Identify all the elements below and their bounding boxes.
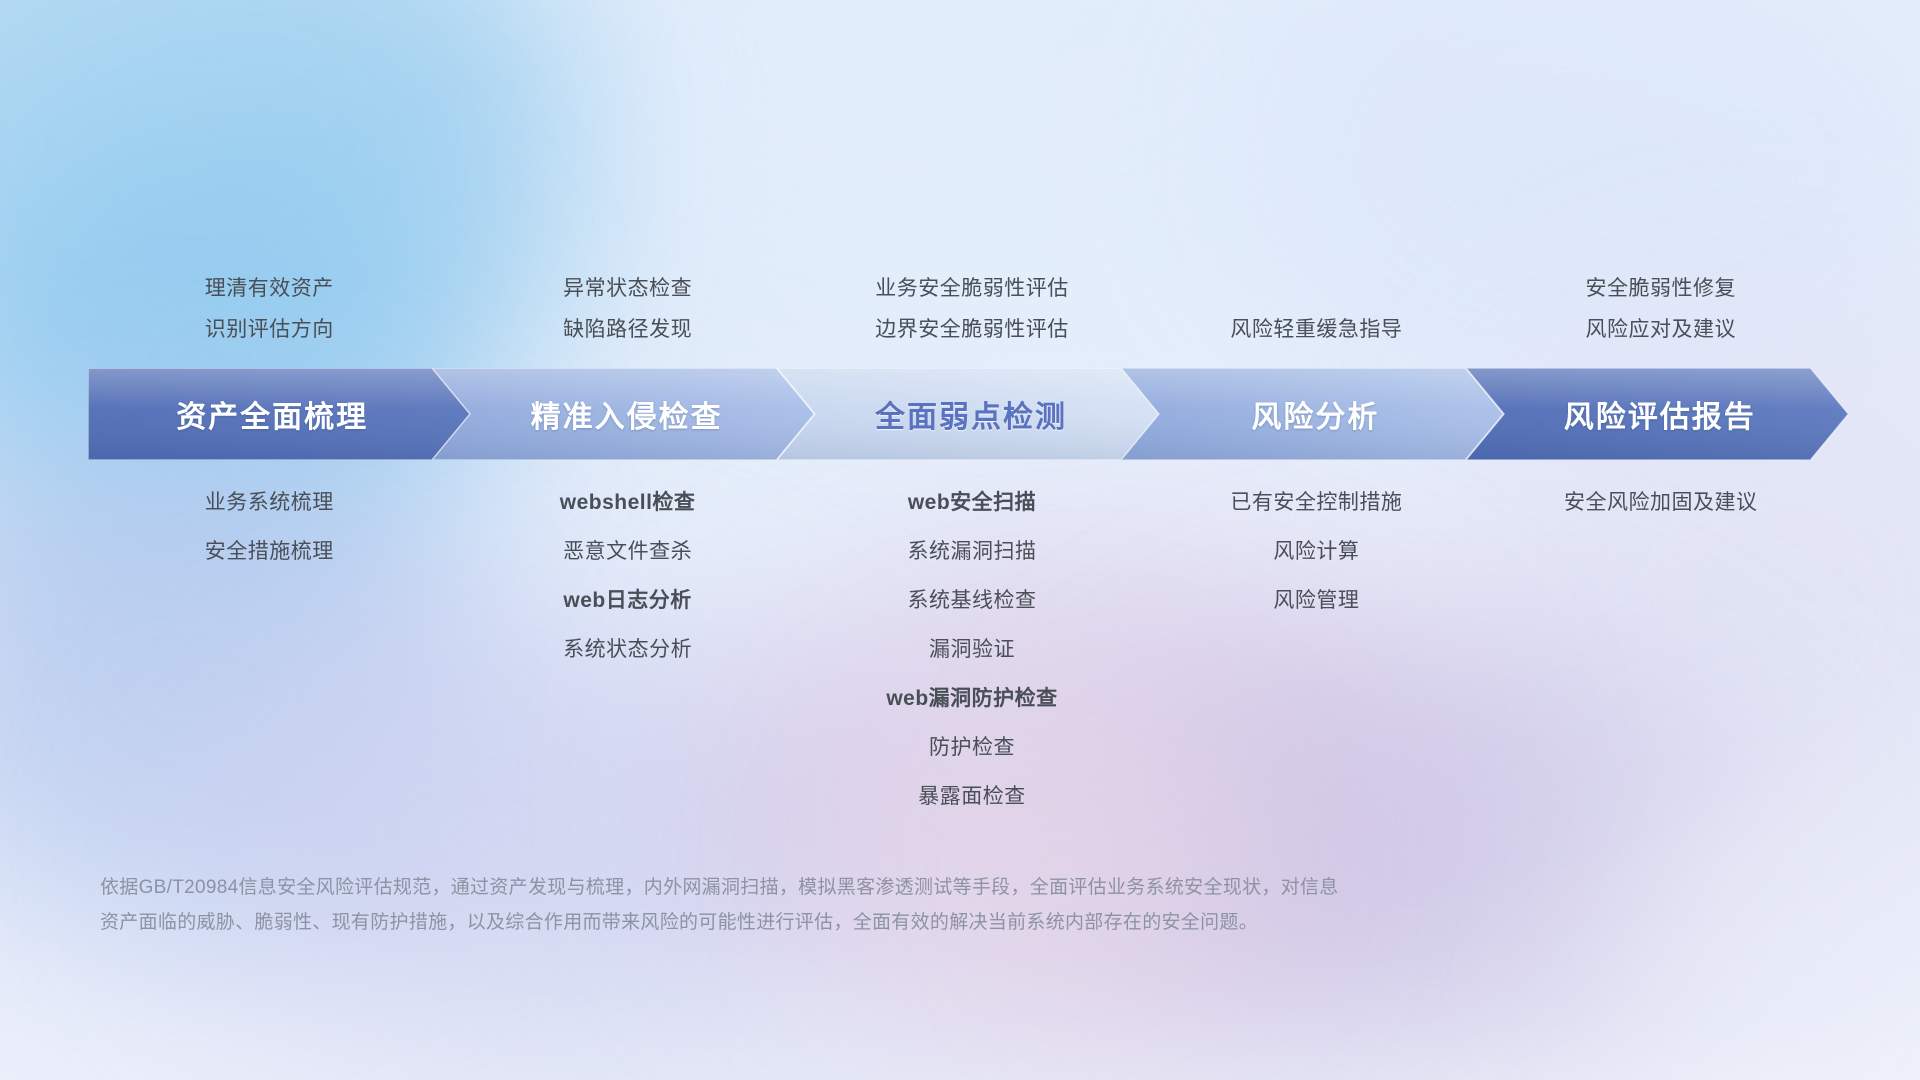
top-item: 安全脆弱性修复	[1381, 268, 1920, 309]
process-step-label: 风险分析	[1251, 392, 1379, 436]
bottom-item: 安全风险加固及建议	[1381, 478, 1920, 527]
process-step-1[interactable]: 资产全面梳理	[88, 368, 470, 460]
footer-line-1: 依据GB/T20984信息安全风险评估规范，通过资产发现与梳理，内外网漏洞扫描，…	[100, 870, 1600, 905]
process-chevron-band: 资产全面梳理精准入侵检查全面弱点检测风险分析风险评估报告	[88, 368, 1848, 460]
step-bottom-items-4: 安全风险加固及建议	[1381, 478, 1920, 527]
process-step-3[interactable]: 全面弱点检测	[777, 368, 1159, 460]
process-step-label: 全面弱点检测	[875, 392, 1067, 436]
step-top-items-4: 安全脆弱性修复风险应对及建议	[1381, 268, 1920, 350]
process-diagram: 理清有效资产识别评估方向 异常状态检查缺陷路径发现 业务安全脆弱性评估边界安全脆…	[0, 0, 1920, 1080]
process-step-5[interactable]: 风险评估报告	[1466, 368, 1848, 460]
bottom-item: 暴露面检查	[692, 772, 1252, 821]
process-step-label: 资产全面梳理	[176, 392, 368, 436]
bottom-item: 漏洞验证	[692, 625, 1252, 674]
bottom-item: 风险管理	[1036, 576, 1596, 625]
bottom-item: 防护检查	[692, 723, 1252, 772]
footer-description: 依据GB/T20984信息安全风险评估规范，通过资产发现与梳理，内外网漏洞扫描，…	[100, 870, 1600, 940]
bottom-item: 风险计算	[1036, 527, 1596, 576]
process-step-label: 风险评估报告	[1564, 392, 1756, 436]
footer-line-2: 资产面临的威胁、脆弱性、现有防护措施，以及综合作用而带来风险的可能性进行评估，全…	[100, 905, 1600, 940]
process-step-4[interactable]: 风险分析	[1121, 368, 1503, 460]
top-item: 业务安全脆弱性评估	[692, 268, 1252, 309]
process-step-2[interactable]: 精准入侵检查	[432, 368, 814, 460]
bottom-item: web漏洞防护检查	[692, 674, 1252, 723]
top-item: 风险应对及建议	[1381, 309, 1920, 350]
process-step-label: 精准入侵检查	[531, 392, 723, 436]
